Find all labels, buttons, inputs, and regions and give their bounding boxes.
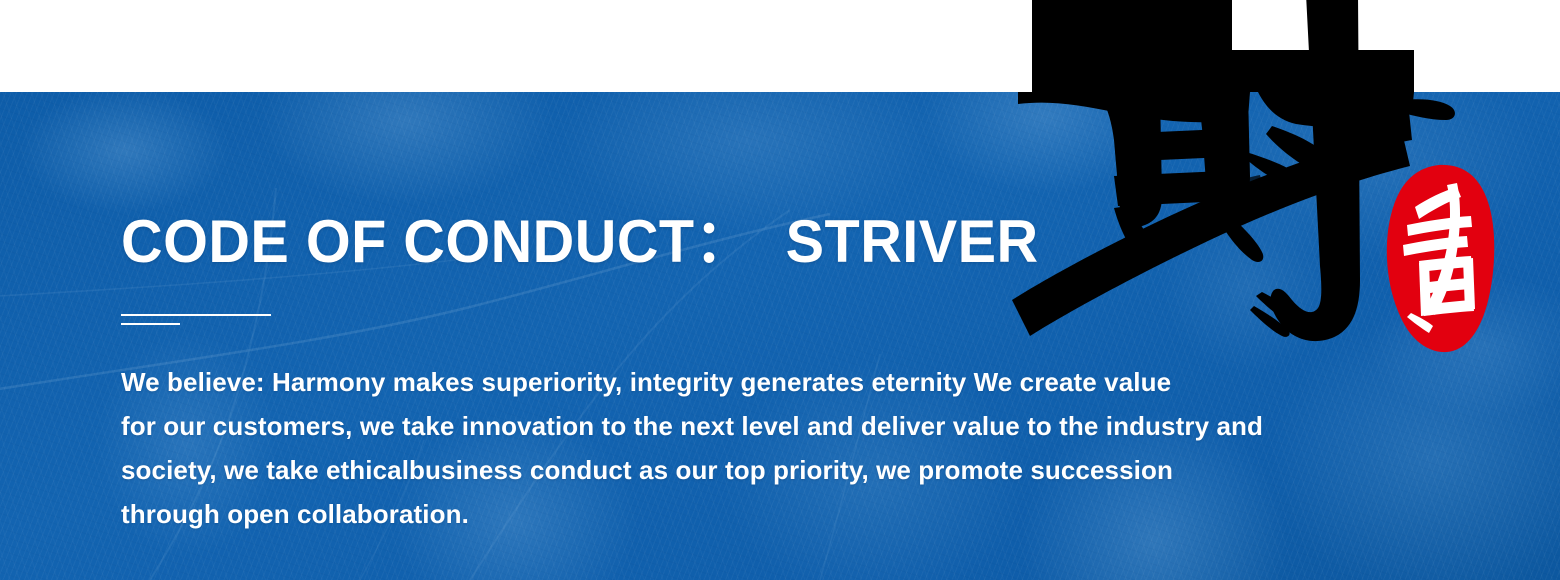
divider [121, 314, 271, 325]
body-line: through open collaboration. [121, 492, 1381, 536]
divider-rule-short [121, 323, 180, 325]
code-of-conduct-banner: CODE OF CONDUCT： STRIVER We believe: Har… [0, 0, 1560, 580]
red-seal-stamp [1385, 163, 1497, 353]
body-line: society, we take ethicalbusiness conduct… [121, 448, 1381, 492]
seal-blob [1387, 165, 1494, 352]
divider-rule-long [121, 314, 271, 316]
body-paragraph: We believe: Harmony makes superiority, i… [121, 360, 1381, 536]
page-title: CODE OF CONDUCT： STRIVER [121, 212, 1039, 272]
body-line: We believe: Harmony makes superiority, i… [121, 360, 1381, 404]
body-line: for our customers, we take innovation to… [121, 404, 1381, 448]
